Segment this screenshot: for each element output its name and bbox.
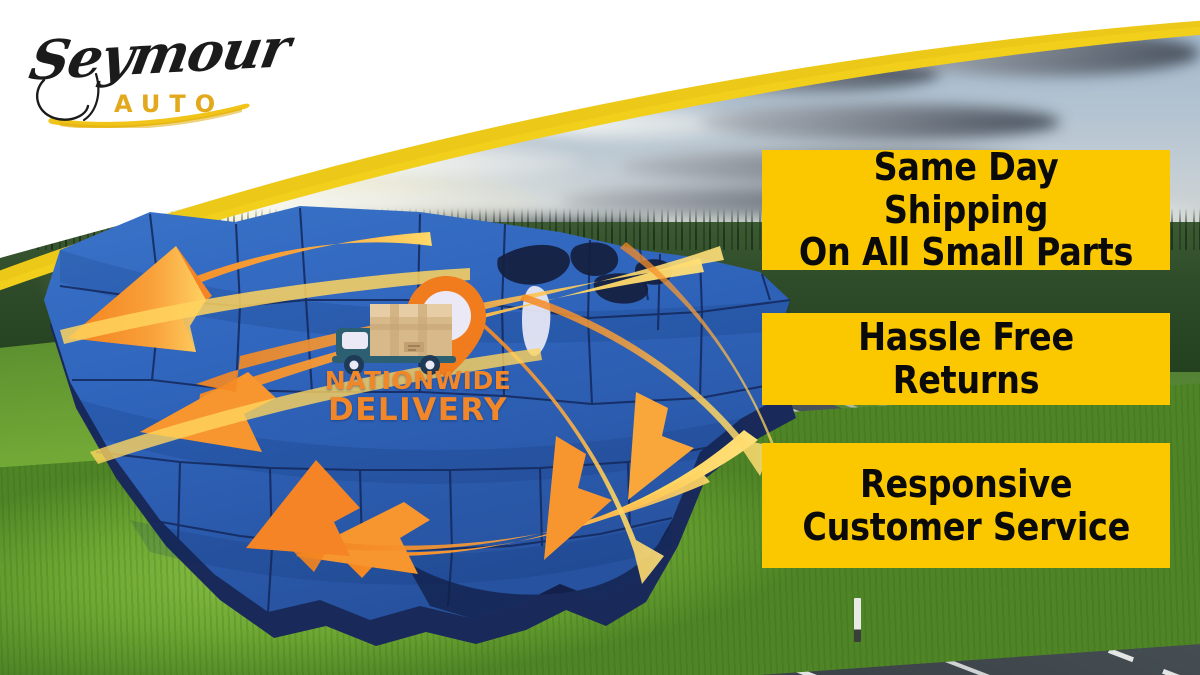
brand-subtitle: AUTO bbox=[114, 90, 224, 118]
brand-logo[interactable]: Seymour AUTO bbox=[26, 18, 266, 128]
claim-text: Same Day Shipping On All Small Parts bbox=[786, 146, 1145, 274]
claim-panel-hassle-free-returns[interactable]: Hassle Free Returns bbox=[762, 313, 1170, 405]
nationwide-delivery-badge: NATIONWIDE DELIVERY bbox=[318, 272, 518, 457]
promotional-banner: NATIONWIDE DELIVERY Seymour AUTO Same Da… bbox=[0, 0, 1200, 675]
claim-text: Responsive Customer Service bbox=[802, 463, 1130, 548]
delivery-badge-text: NATIONWIDE DELIVERY bbox=[318, 368, 518, 426]
claim-panel-responsive-customer-service[interactable]: Responsive Customer Service bbox=[762, 443, 1170, 568]
claim-panel-same-day-shipping[interactable]: Same Day Shipping On All Small Parts bbox=[762, 150, 1170, 270]
claim-text: Hassle Free Returns bbox=[786, 316, 1145, 401]
delivery-truck-icon bbox=[332, 304, 456, 375]
badge-line-1: NATIONWIDE bbox=[318, 368, 518, 394]
badge-line-2: DELIVERY bbox=[318, 395, 518, 427]
roadside-marker-post bbox=[854, 598, 861, 642]
